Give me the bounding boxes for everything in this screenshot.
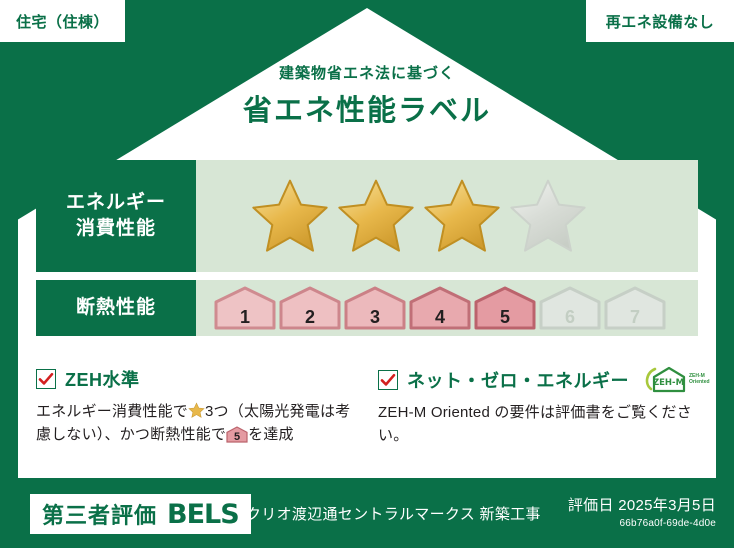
row-insulation-value: 1234567 xyxy=(196,280,698,336)
insulation-step-number: 6 xyxy=(539,308,601,326)
energy-performance-label: 住宅（住棟） 再エネ設備なし 建築物省エネ法に基づく 省エネ性能ラベル エネルギ… xyxy=(0,0,734,548)
insulation-step-number: 1 xyxy=(214,308,276,326)
zeh-m-logo: ZEH-M ZEH-M Oriented xyxy=(644,366,710,393)
page-title: 建築物省エネ法に基づく 省エネ性能ラベル xyxy=(0,62,734,129)
inline-house-number: 5 xyxy=(226,432,248,443)
criteria-zeh-heading: ZEH水準 xyxy=(36,366,360,392)
evaluation-date: 評価日 2025年3月5日 xyxy=(568,494,716,515)
criteria-columns: ZEH水準 エネルギー消費性能で 3つ（太陽光発電は考慮しない）、かつ断熱性能で… xyxy=(36,366,702,448)
zeh-m-logo-caption: ZEH-M Oriented xyxy=(689,374,710,386)
row-energy-label-line1: エネルギー xyxy=(66,190,166,216)
row-energy-label: エネルギー 消費性能 xyxy=(36,160,196,272)
insulation-step-filled: 3 xyxy=(344,286,406,330)
insulation-step-number: 3 xyxy=(344,308,406,326)
insulation-step-filled: 1 xyxy=(214,286,276,330)
insulation-step-number: 5 xyxy=(474,308,536,326)
badge-building-type: 住宅（住棟） xyxy=(0,0,125,42)
title-subtitle: 建築物省エネ法に基づく xyxy=(0,62,734,83)
star-filled-icon xyxy=(420,176,504,256)
insulation-step-empty: 6 xyxy=(539,286,601,330)
star-filled-icon xyxy=(248,176,332,256)
row-energy-performance: エネルギー 消費性能 xyxy=(36,160,698,272)
evaluation-info: 評価日 2025年3月5日 66b76a0f-69de-4d0e xyxy=(568,494,716,529)
insulation-step-filled: 2 xyxy=(279,286,341,330)
criteria-zeh-title: ZEH水準 xyxy=(65,366,140,392)
title-main: 省エネ性能ラベル xyxy=(0,87,734,129)
criteria-zeh-body-end: を達成 xyxy=(248,426,294,443)
checkbox-checked-icon xyxy=(378,370,398,390)
criteria-nzeb-body: ZEH-M Oriented の要件は評価書をご覧ください。 xyxy=(378,401,702,448)
insulation-scale: 1234567 xyxy=(196,286,666,330)
row-insulation-label: 断熱性能 xyxy=(36,280,196,336)
star-empty-icon xyxy=(506,176,590,256)
zeh-m-caption-line2: Oriented xyxy=(689,379,710,385)
row-insulation-label-text: 断熱性能 xyxy=(76,295,156,321)
insulation-step-number: 4 xyxy=(409,308,471,326)
criteria-nzeb-title: ネット・ゼロ・エネルギー xyxy=(407,367,629,393)
insulation-step-number: 7 xyxy=(604,308,666,326)
row-energy-value xyxy=(196,160,698,272)
bels-logo-jp: 第三者評価 xyxy=(42,498,157,530)
criteria-zeh-body-before: エネルギー消費性能で xyxy=(36,403,188,420)
criteria-nzeb-heading: ネット・ゼロ・エネルギー ZEH-M ZEH-M Oriented xyxy=(378,366,702,393)
project-name: クリオ渡辺通セントラルマークス 新築工事 xyxy=(246,503,541,524)
badge-renewable-equipment: 再エネ設備なし xyxy=(586,0,734,42)
inline-star-icon xyxy=(188,402,205,419)
criteria-zeh-body: エネルギー消費性能で 3つ（太陽光発電は考慮しない）、かつ断熱性能で 5を達成 xyxy=(36,400,360,447)
star-rating xyxy=(196,176,590,256)
row-energy-label-line2: 消費性能 xyxy=(76,216,156,242)
inline-house-badge: 5 xyxy=(226,426,248,443)
badge-renewable-equipment-text: 再エネ設備なし xyxy=(606,11,715,32)
insulation-step-number: 2 xyxy=(279,308,341,326)
row-insulation-performance: 断熱性能 1234567 xyxy=(36,280,698,336)
insulation-step-empty: 7 xyxy=(604,286,666,330)
bels-logo: 第三者評価 BELS xyxy=(30,494,251,534)
footer-bar: 第三者評価 BELS クリオ渡辺通セントラルマークス 新築工事 評価日 2025… xyxy=(0,486,734,548)
svg-text:ZEH-M: ZEH-M xyxy=(653,378,684,388)
insulation-step-filled: 4 xyxy=(409,286,471,330)
criteria-nzeb: ネット・ゼロ・エネルギー ZEH-M ZEH-M Oriented ZEH-M … xyxy=(378,366,702,448)
insulation-step-filled: 5 xyxy=(474,286,536,330)
evaluation-id: 66b76a0f-69de-4d0e xyxy=(568,518,716,529)
checkbox-checked-icon xyxy=(36,369,56,389)
bels-logo-en: BELS xyxy=(167,499,239,530)
badge-building-type-text: 住宅（住棟） xyxy=(16,11,109,32)
criteria-zeh: ZEH水準 エネルギー消費性能で 3つ（太陽光発電は考慮しない）、かつ断熱性能で… xyxy=(36,366,360,448)
star-filled-icon xyxy=(334,176,418,256)
